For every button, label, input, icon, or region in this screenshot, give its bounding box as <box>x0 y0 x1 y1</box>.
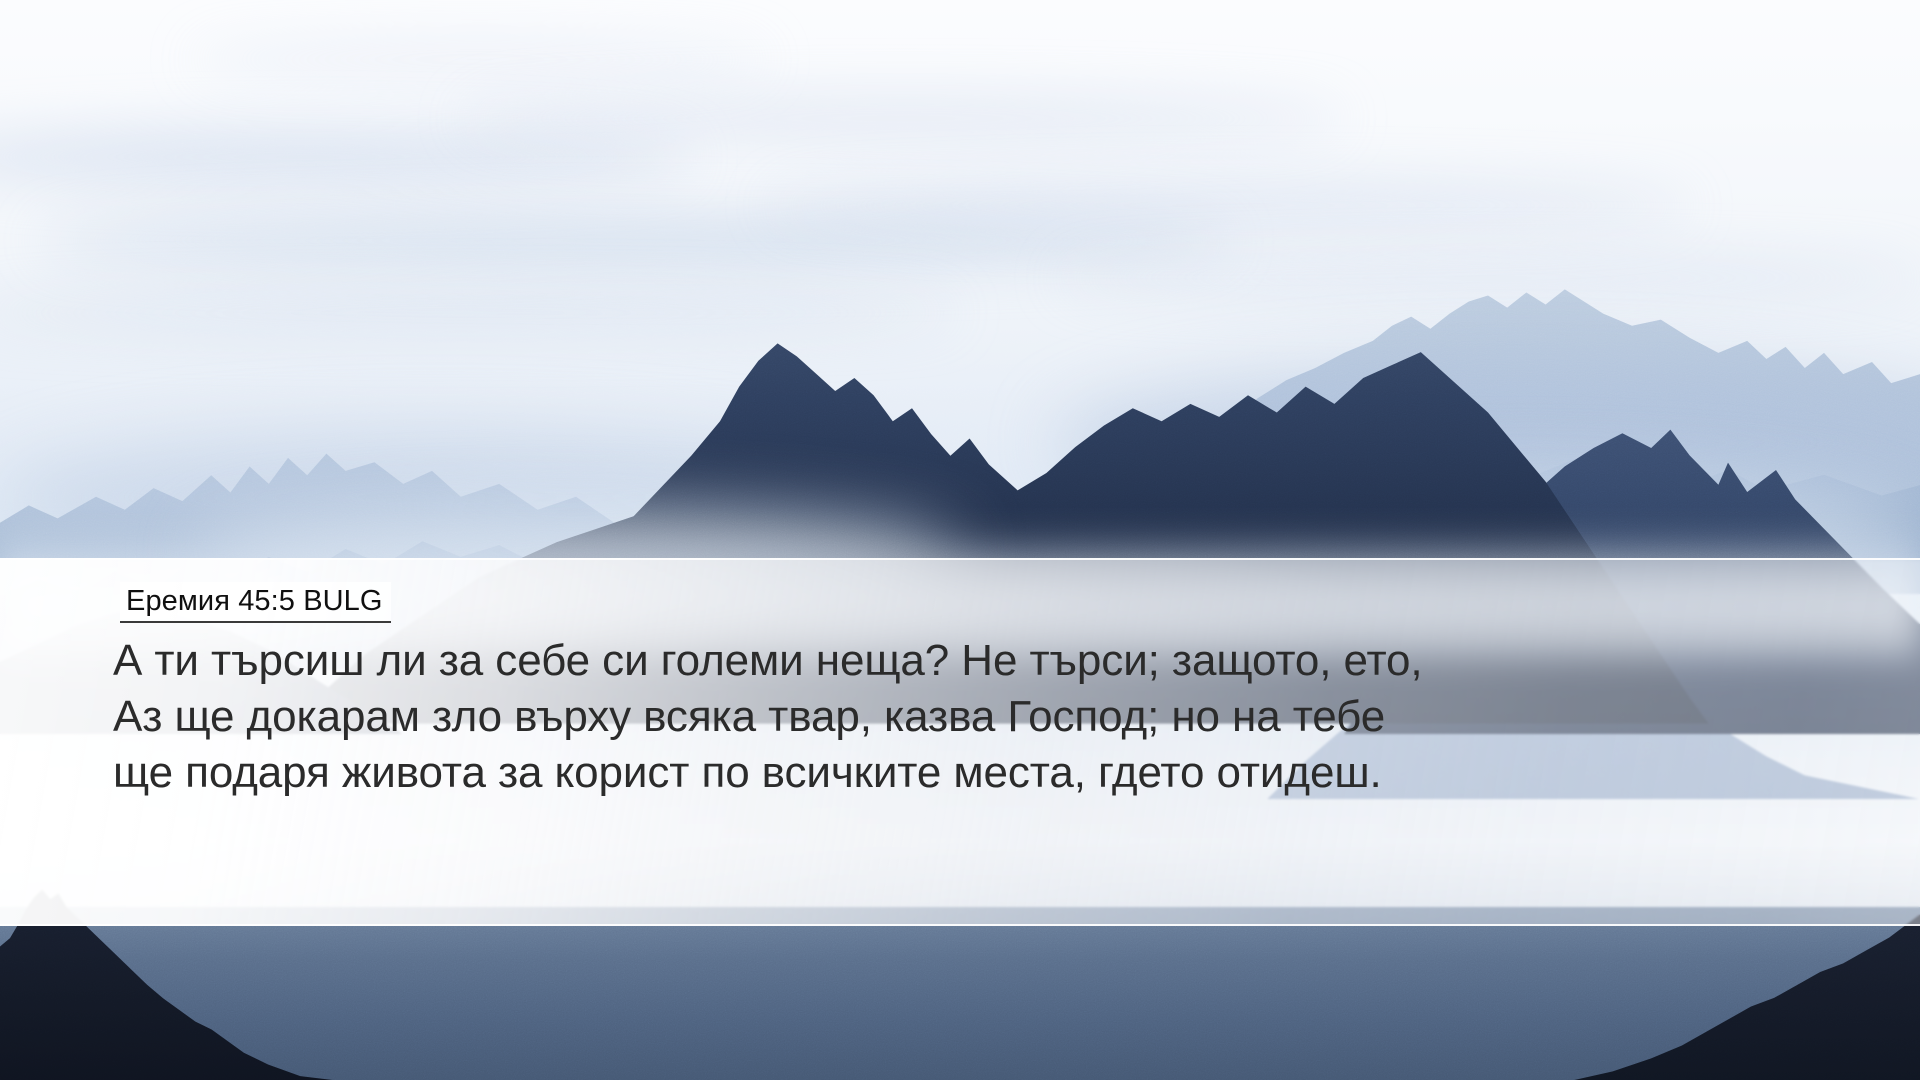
verse-reference-badge: Еремия 45:5 BULG <box>120 582 391 623</box>
cloud-band <box>38 216 1228 265</box>
cloud-band <box>461 97 1344 140</box>
distant-snow-range <box>0 259 1920 561</box>
cloud-band <box>1056 259 1920 297</box>
verse-overlay-panel: Еремия 45:5 BULG А ти търсиш ли за себе … <box>0 558 1920 926</box>
atmospheric-haze <box>1056 367 1920 518</box>
verse-line: А ти търсиш ли за себе си големи неща? Н… <box>113 633 1813 689</box>
distant-jagged-range <box>0 335 1920 594</box>
verse-reference-text: Еремия 45:5 BULG <box>126 585 383 617</box>
valley-water-zone <box>0 907 1920 1080</box>
verse-line: Аз ще докарам зло върху всяка твар, казв… <box>113 689 1813 745</box>
verse-image-canvas: Еремия 45:5 BULG А ти търсиш ли за себе … <box>0 0 1920 1080</box>
verse-line: ще подаря живота за корист по всичките м… <box>113 745 1813 801</box>
verse-body-text: А ти търсиш ли за себе си големи неща? Н… <box>113 633 1813 801</box>
cloud-band <box>0 130 691 184</box>
cloud-band <box>192 43 768 75</box>
cloud-band <box>0 297 960 329</box>
verse-content: Еремия 45:5 BULG А ти търсиш ли за себе … <box>113 582 1820 801</box>
cloud-band <box>768 184 1690 227</box>
atmospheric-haze <box>0 432 864 562</box>
